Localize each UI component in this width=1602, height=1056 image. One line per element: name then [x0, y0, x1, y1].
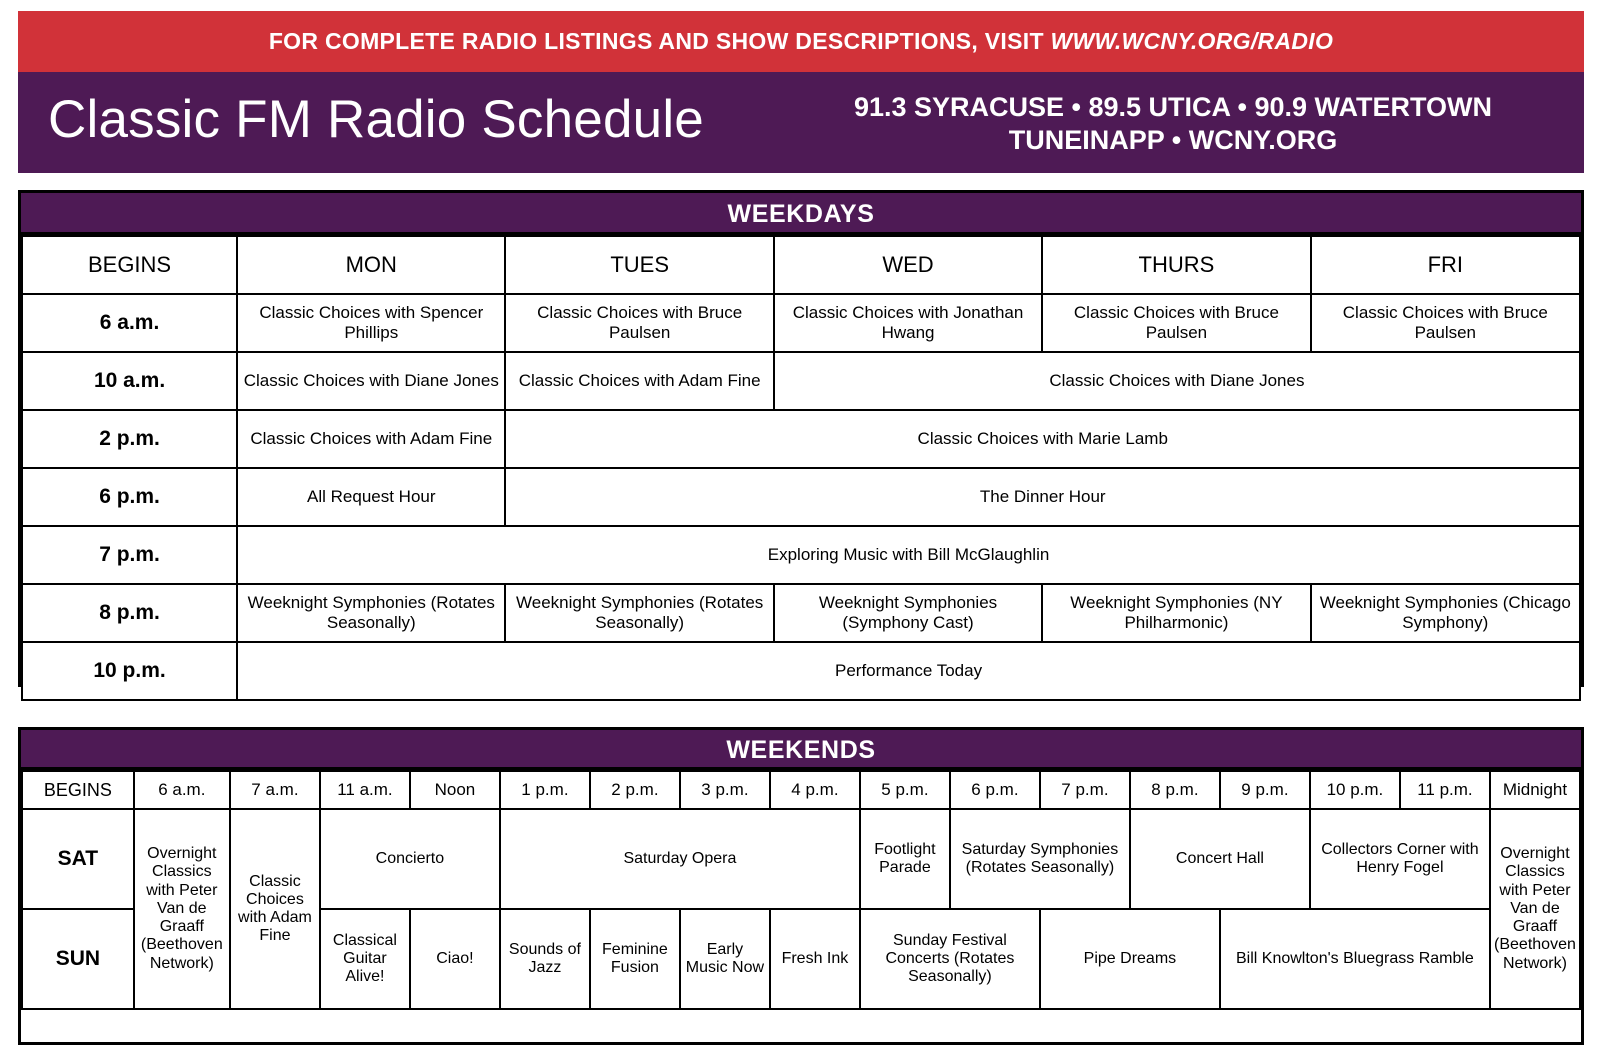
weekends-row: SATOvernight Classics with Peter Van de … [22, 809, 1580, 909]
weekends-col-time: 7 a.m. [230, 771, 320, 809]
weekdays-row: 6 a.m.Classic Choices with Spencer Phill… [22, 294, 1580, 352]
station-apps: TUNEINAPP • WCNY.ORG [778, 124, 1568, 157]
weekends-col-time: Noon [410, 771, 500, 809]
weekdays-program-cell[interactable]: Classic Choices with Spencer Phillips [237, 294, 505, 352]
weekends-col-time: Midnight [1490, 771, 1580, 809]
weekdays-row: 10 p.m.Performance Today [22, 642, 1580, 700]
weekends-col-time: 11 a.m. [320, 771, 410, 809]
weekdays-table-body: 6 a.m.Classic Choices with Spencer Phill… [22, 294, 1580, 700]
weekdays-program-cell[interactable]: Classic Choices with Diane Jones [774, 352, 1580, 410]
weekends-program-cell[interactable]: Footlight Parade [860, 809, 950, 909]
weekdays-program-cell[interactable]: Weeknight Symphonies (Rotates Seasonally… [505, 584, 773, 642]
weekdays-program-cell[interactable]: Weeknight Symphonies (Chicago Symphony) [1311, 584, 1580, 642]
weekends-program-cell[interactable]: Feminine Fusion [590, 909, 680, 1009]
weekdays-time-label: 2 p.m. [22, 410, 237, 468]
weekdays-program-cell[interactable]: Performance Today [237, 642, 1580, 700]
radio-schedule-page: FOR COMPLETE RADIO LISTINGS AND SHOW DES… [0, 0, 1602, 1056]
weekends-header-row: BEGINS6 a.m.7 a.m.11 a.m.Noon1 p.m.2 p.m… [22, 771, 1580, 809]
weekdays-section-title: WEEKDAYS [21, 193, 1581, 235]
weekdays-program-cell[interactable]: Classic Choices with Bruce Paulsen [505, 294, 773, 352]
weekdays-program-cell[interactable]: Classic Choices with Adam Fine [505, 352, 773, 410]
header-band: Classic FM Radio Schedule 91.3 SYRACUSE … [18, 72, 1584, 173]
weekdays-time-label: 10 a.m. [22, 352, 237, 410]
weekends-program-cell[interactable]: Sounds of Jazz [500, 909, 590, 1009]
weekends-program-cell[interactable]: Pipe Dreams [1040, 909, 1220, 1009]
weekends-program-cell[interactable]: Classic Choices with Adam Fine [230, 809, 320, 1009]
weekdays-header-row: BEGINSMONTUESWEDTHURSFRI [22, 236, 1580, 294]
weekends-col-time: 6 p.m. [950, 771, 1040, 809]
weekends-col-time: 9 p.m. [1220, 771, 1310, 809]
weekdays-row: 10 a.m.Classic Choices with Diane JonesC… [22, 352, 1580, 410]
weekdays-col-wed: WED [774, 236, 1042, 294]
weekdays-program-cell[interactable]: Classic Choices with Bruce Paulsen [1311, 294, 1580, 352]
weekdays-col-thurs: THURS [1042, 236, 1310, 294]
weekdays-program-cell[interactable]: Classic Choices with Bruce Paulsen [1042, 294, 1310, 352]
weekdays-row: 2 p.m.Classic Choices with Adam FineClas… [22, 410, 1580, 468]
weekends-table-body: SATOvernight Classics with Peter Van de … [22, 809, 1580, 1009]
weekends-col-time: 4 p.m. [770, 771, 860, 809]
weekends-program-cell[interactable]: Fresh Ink [770, 909, 860, 1009]
weekdays-program-cell[interactable]: Weeknight Symphonies (Rotates Seasonally… [237, 584, 505, 642]
weekdays-program-cell[interactable]: Weeknight Symphonies (Symphony Cast) [774, 584, 1042, 642]
weekdays-row: 8 p.m.Weeknight Symphonies (Rotates Seas… [22, 584, 1580, 642]
weekends-col-begins: BEGINS [22, 771, 134, 809]
weekends-col-time: 6 a.m. [134, 771, 230, 809]
weekends-section-title: WEEKENDS [21, 730, 1581, 770]
weekends-col-time: 2 p.m. [590, 771, 680, 809]
weekdays-program-cell[interactable]: Classic Choices with Adam Fine [237, 410, 505, 468]
weekends-program-cell[interactable]: Early Music Now [680, 909, 770, 1009]
weekends-col-time: 8 p.m. [1130, 771, 1220, 809]
weekends-program-cell[interactable]: Bill Knowlton's Bluegrass Ramble [1220, 909, 1490, 1009]
weekends-program-cell[interactable]: Overnight Classics with Peter Van de Gra… [134, 809, 230, 1009]
weekends-col-time: 7 p.m. [1040, 771, 1130, 809]
weekdays-section: WEEKDAYS BEGINSMONTUESWEDTHURSFRI 6 a.m.… [18, 190, 1584, 687]
weekdays-program-cell[interactable]: Classic Choices with Marie Lamb [505, 410, 1580, 468]
station-frequencies: 91.3 SYRACUSE • 89.5 UTICA • 90.9 WATERT… [778, 91, 1568, 124]
weekdays-col-begins: BEGINS [22, 236, 237, 294]
weekends-col-time: 3 p.m. [680, 771, 770, 809]
radio-listings-banner: FOR COMPLETE RADIO LISTINGS AND SHOW DES… [18, 11, 1584, 72]
weekdays-time-label: 7 p.m. [22, 526, 237, 584]
banner-url[interactable]: WWW.WCNY.ORG/RADIO [1051, 28, 1334, 54]
weekdays-program-cell[interactable]: Weeknight Symphonies (NY Philharmonic) [1042, 584, 1310, 642]
weekdays-row: 6 p.m.All Request HourThe Dinner Hour [22, 468, 1580, 526]
weekdays-time-label: 6 p.m. [22, 468, 237, 526]
weekends-program-cell[interactable]: Sunday Festival Concerts (Rotates Season… [860, 909, 1040, 1009]
station-info: 91.3 SYRACUSE • 89.5 UTICA • 90.9 WATERT… [778, 91, 1568, 157]
weekdays-program-cell[interactable]: The Dinner Hour [505, 468, 1580, 526]
weekends-table: BEGINS6 a.m.7 a.m.11 a.m.Noon1 p.m.2 p.m… [21, 770, 1581, 1010]
weekdays-col-fri: FRI [1311, 236, 1580, 294]
weekends-program-cell[interactable]: Saturday Symphonies (Rotates Seasonally) [950, 809, 1130, 909]
weekends-col-time: 11 p.m. [1400, 771, 1490, 809]
banner-text-lead: FOR COMPLETE RADIO LISTINGS AND SHOW DES… [269, 28, 1051, 54]
weekdays-program-cell[interactable]: All Request Hour [237, 468, 505, 526]
weekends-program-cell[interactable]: Overnight Classics with Peter Van de Gra… [1490, 809, 1580, 1009]
weekends-program-cell[interactable]: Ciao! [410, 909, 500, 1009]
weekdays-time-label: 6 a.m. [22, 294, 237, 352]
weekdays-table: BEGINSMONTUESWEDTHURSFRI 6 a.m.Classic C… [21, 235, 1581, 701]
weekends-col-time: 1 p.m. [500, 771, 590, 809]
weekdays-col-tues: TUES [505, 236, 773, 294]
weekends-program-cell[interactable]: Collectors Corner with Henry Fogel [1310, 809, 1490, 909]
weekends-program-cell[interactable]: Saturday Opera [500, 809, 860, 909]
weekdays-time-label: 10 p.m. [22, 642, 237, 700]
weekdays-time-label: 8 p.m. [22, 584, 237, 642]
weekdays-program-cell[interactable]: Classic Choices with Jonathan Hwang [774, 294, 1042, 352]
weekends-program-cell[interactable]: Concert Hall [1130, 809, 1310, 909]
weekdays-program-cell[interactable]: Exploring Music with Bill McGlaughlin [237, 526, 1580, 584]
weekends-day-label: SAT [22, 809, 134, 909]
weekends-col-time: 5 p.m. [860, 771, 950, 809]
weekdays-table-head: BEGINSMONTUESWEDTHURSFRI [22, 236, 1580, 294]
weekdays-col-mon: MON [237, 236, 505, 294]
weekends-program-cell[interactable]: Concierto [320, 809, 500, 909]
weekends-table-head: BEGINS6 a.m.7 a.m.11 a.m.Noon1 p.m.2 p.m… [22, 771, 1580, 809]
weekdays-row: 7 p.m.Exploring Music with Bill McGlaugh… [22, 526, 1580, 584]
weekends-col-time: 10 p.m. [1310, 771, 1400, 809]
weekdays-program-cell[interactable]: Classic Choices with Diane Jones [237, 352, 505, 410]
weekends-section: WEEKENDS BEGINS6 a.m.7 a.m.11 a.m.Noon1 … [18, 727, 1584, 1045]
weekends-program-cell[interactable]: Classical Guitar Alive! [320, 909, 410, 1009]
weekends-day-label: SUN [22, 909, 134, 1009]
banner-text: FOR COMPLETE RADIO LISTINGS AND SHOW DES… [269, 28, 1333, 55]
page-title: Classic FM Radio Schedule [48, 89, 704, 150]
